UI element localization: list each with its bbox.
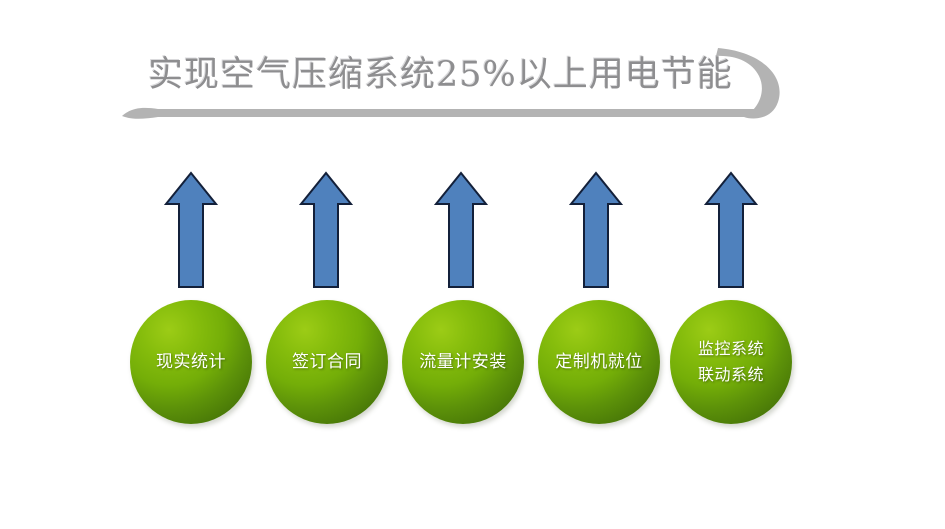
step-circle-label: 现实统计 bbox=[152, 350, 230, 374]
step-circle-label: 流量计安装 bbox=[415, 350, 511, 374]
up-arrow-icon-5 bbox=[703, 170, 759, 290]
arrow-up-icon bbox=[433, 170, 489, 290]
arrow-up-icon bbox=[298, 170, 354, 290]
up-arrow-icon-2 bbox=[298, 170, 354, 290]
up-arrow-icon-3 bbox=[433, 170, 489, 290]
step-circle-5[interactable]: 监控系统 联动系统 bbox=[670, 300, 792, 424]
title-banner: 实现空气压缩系统25%以上用电节能 bbox=[118, 36, 786, 140]
step-circle-2[interactable]: 签订合同 bbox=[266, 300, 388, 424]
step-circle-4[interactable]: 定制机就位 bbox=[538, 300, 660, 424]
step-circle-label: 定制机就位 bbox=[551, 350, 647, 374]
up-arrow-icon-1 bbox=[163, 170, 219, 290]
arrow-up-icon bbox=[163, 170, 219, 290]
step-circle-3[interactable]: 流量计安装 bbox=[402, 300, 524, 424]
page-title: 实现空气压缩系统25%以上用电节能 bbox=[148, 44, 748, 106]
arrow-up-icon bbox=[703, 170, 759, 290]
step-circle-1[interactable]: 现实统计 bbox=[130, 300, 252, 424]
slide-canvas: 实现空气压缩系统25%以上用电节能 现实统计 签订合同 流量计安装 定制机 bbox=[0, 0, 945, 529]
arrow-up-icon bbox=[568, 170, 624, 290]
step-circle-label: 签订合同 bbox=[288, 350, 366, 374]
step-circle-label: 监控系统 联动系统 bbox=[694, 336, 768, 388]
up-arrow-icon-4 bbox=[568, 170, 624, 290]
